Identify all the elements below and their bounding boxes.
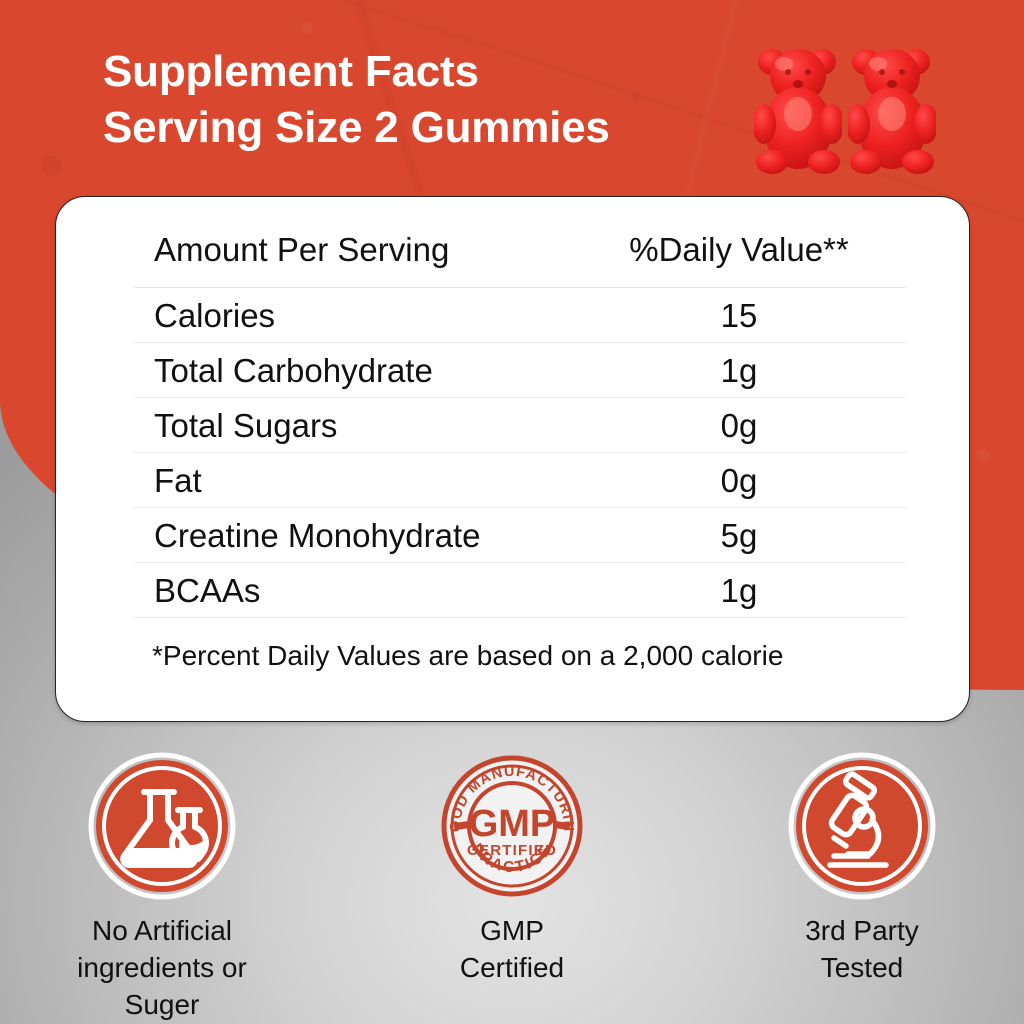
nutrient-value: 0g <box>589 398 889 445</box>
supplement-facts-page: Supplement Facts Serving Size 2 Gummies <box>0 0 1024 1024</box>
column-header-daily-value: %Daily Value** <box>589 231 889 269</box>
nutrient-name: Creatine Monohydrate <box>134 508 589 555</box>
badge-no-artificial-ingredients: No Artificial ingredients or Suger <box>62 752 262 1023</box>
nutrient-name: BCAAs <box>134 563 589 610</box>
badge-label: No Artificial ingredients or Suger <box>62 912 262 1023</box>
microscope-icon <box>788 752 936 900</box>
gmp-certified-seal-icon: GOOD MANUFACTURING PRACTICE GMP CERTIFIE… <box>438 752 586 900</box>
nutrient-name: Fat <box>134 453 589 500</box>
nutrient-name: Calories <box>134 288 589 335</box>
table-row: Total Sugars 0g <box>134 398 906 453</box>
daily-value-footnote: *Percent Daily Values are based on a 2,0… <box>134 618 906 672</box>
table-row: Calories 15 <box>134 288 906 343</box>
nutrient-value: 1g <box>589 563 889 610</box>
nutrient-value: 15 <box>589 288 889 335</box>
nutrient-value: 5g <box>589 508 889 555</box>
gummy-bear-icon <box>754 36 842 174</box>
gummy-bear-icon <box>848 36 936 174</box>
table-row: BCAAs 1g <box>134 563 906 618</box>
gummy-bears-group <box>748 36 938 176</box>
lab-flask-icon <box>88 752 236 900</box>
badge-3rd-party-tested: 3rd Party Tested <box>762 752 962 1023</box>
badge-label: 3rd Party Tested <box>805 912 919 986</box>
page-header: Supplement Facts Serving Size 2 Gummies <box>103 44 743 156</box>
nutrient-name: Total Carbohydrate <box>134 343 589 390</box>
table-row: Creatine Monohydrate 5g <box>134 508 906 563</box>
nutrient-value: 1g <box>589 343 889 390</box>
table-row: Total Carbohydrate 1g <box>134 343 906 398</box>
trust-badges-group: No Artificial ingredients or Suger GOOD … <box>0 752 1024 1023</box>
badge-gmp-certified: GOOD MANUFACTURING PRACTICE GMP CERTIFIE… <box>412 752 612 1023</box>
table-row: Fat 0g <box>134 453 906 508</box>
page-title-line1: Supplement Facts <box>103 44 743 100</box>
column-header-amount-per-serving: Amount Per Serving <box>134 231 589 269</box>
seal-center-subtext: CERTIFIED <box>467 842 557 859</box>
supplement-facts-table: Amount Per Serving %Daily Value** Calori… <box>134 231 906 672</box>
supplement-facts-card: Amount Per Serving %Daily Value** Calori… <box>55 196 970 722</box>
badge-label: GMP Certified <box>460 912 564 986</box>
seal-center-text: GMP <box>469 803 556 845</box>
nutrient-name: Total Sugars <box>134 398 589 445</box>
table-header-row: Amount Per Serving %Daily Value** <box>134 231 906 288</box>
nutrient-value: 0g <box>589 453 889 500</box>
page-title-line2: Serving Size 2 Gummies <box>103 100 743 156</box>
